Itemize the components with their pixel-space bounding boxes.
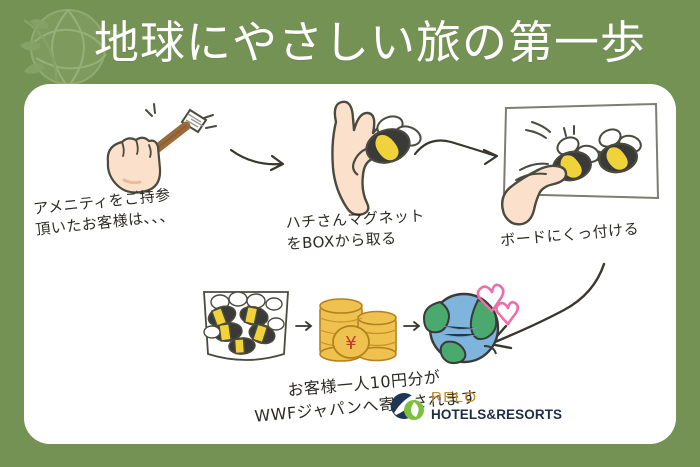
- step-1: アメニティをご持参 頂いたお客様は､､､: [32, 96, 247, 276]
- yen-symbol: ¥: [345, 333, 356, 354]
- content-card: アメニティをご持参 頂いたお客様は､､､: [24, 84, 676, 444]
- page-title: 地球にやさしい旅の第一歩: [60, 4, 680, 82]
- small-arrow-right-icon-2: [404, 322, 419, 330]
- step-2-caption: ハチさんマグネット をBOXから取る: [285, 203, 477, 255]
- small-arrow-right-icon: [296, 322, 311, 330]
- hand-placing-bee-on-board-icon: [496, 94, 676, 234]
- step-2: ハチさんマグネット をBOXから取る: [270, 92, 470, 282]
- relo-circle-leaf-logo-icon: [390, 389, 424, 423]
- relo-hotels-resorts-logo: RELO HOTELS&RESORTS: [390, 384, 530, 428]
- logo-brand-text: RELO: [431, 390, 562, 405]
- logo-subbrand-text: HOTELS&RESORTS: [431, 408, 562, 422]
- poster-root: 地球にやさしい旅の第一歩: [0, 0, 700, 467]
- yen-coin-stacks-icon: ¥: [320, 299, 396, 361]
- box-of-bee-magnets-icon: [204, 292, 288, 360]
